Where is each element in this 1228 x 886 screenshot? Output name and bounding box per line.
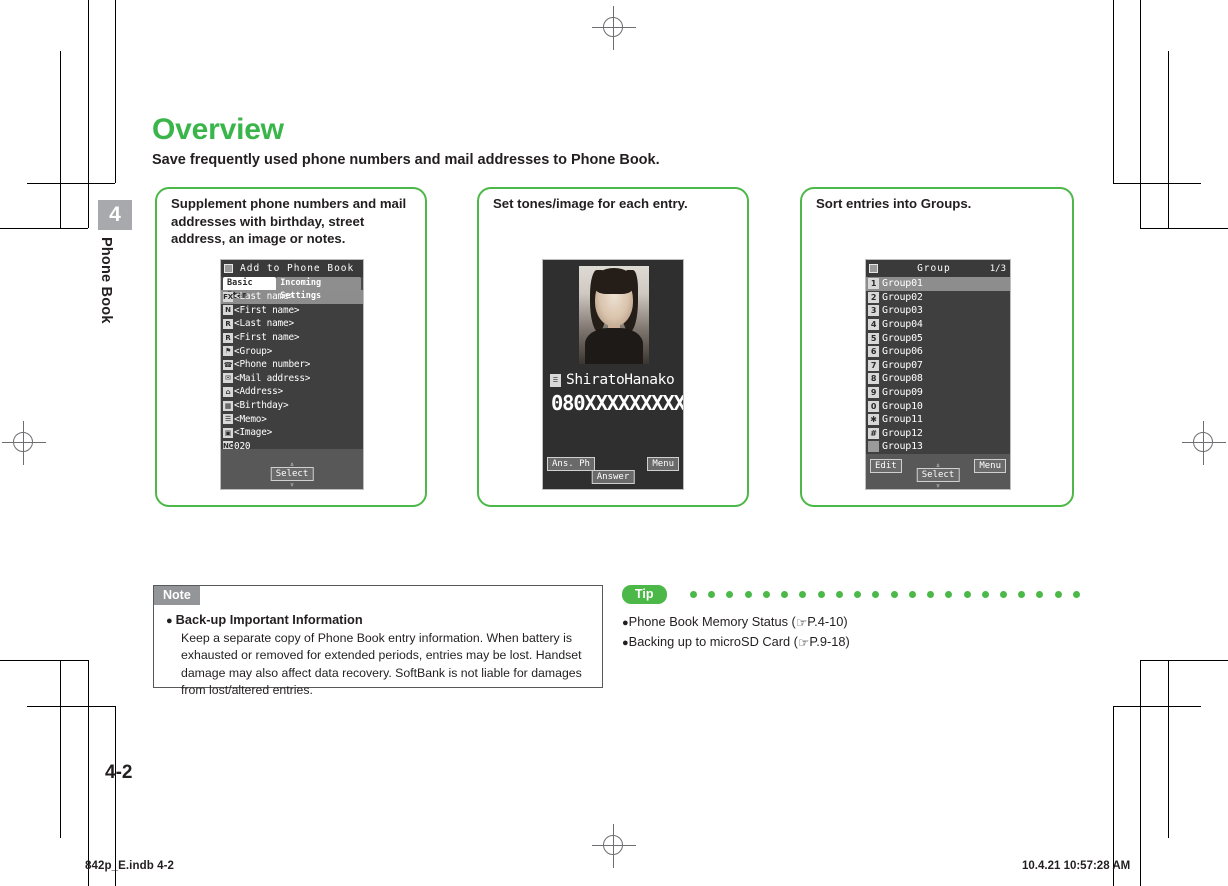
phonebook-field-row[interactable]: FX<Last name>: [221, 290, 363, 304]
group-label: Group09: [882, 387, 923, 398]
group-row[interactable]: 7Group07: [866, 359, 1010, 373]
tip-dot: [781, 591, 788, 598]
phonebook-field-label: <Birthday>: [234, 400, 288, 411]
crop-mark-tr-v3: [1113, 0, 1114, 183]
crop-mark-tr-h2: [1113, 183, 1201, 184]
group-row[interactable]: ✱Group11: [866, 413, 1010, 427]
softkey-edit[interactable]: Edit: [870, 459, 902, 473]
phonebook-entry-icon: ☰: [550, 374, 561, 387]
bullet-icon: ●: [622, 637, 629, 649]
group-label: Group13: [882, 441, 923, 452]
tab-incoming-settings[interactable]: Incoming Settings: [276, 277, 361, 290]
crop-mark-tl-v: [88, 0, 89, 228]
tip-item-ref[interactable]: P.4-10: [807, 614, 843, 629]
group-titlebar: Group 1/3: [866, 260, 1010, 277]
group-row[interactable]: 3Group03: [866, 304, 1010, 318]
tip-dot: [945, 591, 952, 598]
card-caption: Supplement phone numbers and mail addres…: [171, 195, 415, 248]
handset-screen-add-phonebook: Add to Phone Book Basic Item Incoming Se…: [220, 259, 364, 490]
group-label: Group05: [882, 333, 923, 344]
group-label: Group06: [882, 346, 923, 357]
group-page-indicator: 1/3: [990, 264, 1006, 274]
group-shortcut-key: 1: [868, 278, 879, 289]
phonebook-field-label: <Memo>: [234, 414, 267, 425]
crop-mark-tr-v: [1140, 0, 1141, 228]
phonebook-field-row[interactable]: ▣<Image>: [221, 426, 363, 440]
tip-dot: [708, 591, 715, 598]
field-type-icon: FX: [223, 292, 233, 302]
tip-dot: [836, 591, 843, 598]
field-type-icon: N: [223, 305, 233, 315]
phonebook-field-label: <Image>: [234, 427, 272, 438]
note-box: Note ●Back-up Important Information Keep…: [153, 585, 603, 688]
softkey-menu[interactable]: Menu: [974, 459, 1006, 473]
tip-dot: [927, 591, 934, 598]
footer-right: 10.4.21 10:57:28 AM: [1022, 860, 1130, 872]
tip-item-ref[interactable]: P.9-18: [809, 634, 845, 649]
phonebook-field-label: <First name>: [234, 332, 299, 343]
phonebook-field-label: <Last name>: [234, 318, 294, 329]
softkey-menu[interactable]: Menu: [647, 457, 679, 471]
phonebook-field-row[interactable]: ▦<Birthday>: [221, 399, 363, 413]
group-shortcut-key: 8: [868, 373, 879, 384]
chapter-number: 4: [98, 200, 132, 230]
phonebook-field-list: FX<Last name>N<First name>R<Last name>R<…: [221, 290, 363, 453]
crop-mark-tr-v2: [1168, 51, 1169, 229]
group-shortcut-key: 5: [868, 333, 879, 344]
signal-icon: [224, 264, 233, 273]
group-row[interactable]: 1Group01: [866, 277, 1010, 291]
card-caption: Sort entries into Groups.: [816, 195, 1062, 213]
group-row[interactable]: 6Group06: [866, 345, 1010, 359]
chapter-tab: 4 Phone Book: [98, 200, 132, 347]
group-shortcut-key: 3: [868, 305, 879, 316]
page-title: Overview: [152, 113, 284, 147]
softkey-select[interactable]: Select: [271, 467, 314, 481]
note-label: Note: [154, 586, 200, 605]
signal-icon: [869, 264, 878, 273]
softkey-answer[interactable]: Answer: [592, 470, 635, 484]
caller-name: ShiratoHanako: [566, 372, 674, 388]
tip-dot: [799, 591, 806, 598]
group-shortcut-key: 6: [868, 346, 879, 357]
group-label: Group04: [882, 319, 923, 330]
tip-dot: [763, 591, 770, 598]
group-shortcut-key: ✱: [868, 414, 879, 425]
group-label: Group11: [882, 414, 923, 425]
crop-mark-tl-h: [0, 228, 88, 229]
crop-mark-tl-v2: [60, 51, 61, 229]
field-type-icon: R: [223, 333, 233, 343]
footer-left: 842p_E.indb 4-2: [85, 860, 174, 872]
handset-screen-group-list: Group 1/3 1Group012Group023Group034Group…: [865, 259, 1011, 490]
tip-item-close: ): [843, 614, 847, 629]
tip-dot: [726, 591, 733, 598]
card-caption: Set tones/image for each entry.: [493, 195, 737, 213]
registration-mark-top: [592, 6, 636, 50]
field-type-icon: R: [223, 319, 233, 329]
page-subtitle: Save frequently used phone numbers and m…: [152, 152, 660, 168]
group-row[interactable]: 5Group05: [866, 331, 1010, 345]
note-body: Keep a separate copy of Phone Book entry…: [181, 630, 593, 700]
phonebook-field-row[interactable]: N<First name>: [221, 304, 363, 318]
group-row[interactable]: 0Group10: [866, 399, 1010, 413]
tip-item: ●Backing up to microSD Card (☞P.9-18): [622, 632, 850, 652]
group-row[interactable]: 4Group04: [866, 318, 1010, 332]
phonebook-field-row[interactable]: ⚑<Group>: [221, 344, 363, 358]
group-label: Group08: [882, 373, 923, 384]
registration-mark-bottom: [592, 824, 636, 868]
group-title: Group: [878, 263, 990, 274]
group-label: Group03: [882, 305, 923, 316]
bullet-icon: ●: [622, 617, 629, 629]
crop-mark-tl-v3: [115, 0, 116, 183]
phonebook-field-label: <Last name>: [234, 291, 294, 302]
reference-arrow-icon: ☞: [796, 614, 807, 633]
crop-mark-br-v3: [1113, 706, 1114, 886]
caller-photo: [579, 266, 649, 364]
group-label: Group02: [882, 292, 923, 303]
group-shortcut-key: [868, 441, 879, 452]
tip-dot: [891, 591, 898, 598]
tab-basic-item[interactable]: Basic Item: [223, 277, 276, 290]
tip-item-text: Backing up to microSD Card (: [629, 634, 798, 649]
group-softkeys: Edit ▵ Select ▿ Menu: [866, 455, 1010, 489]
caller-name-row: ☰ ShiratoHanako: [550, 372, 679, 388]
phonebook-titlebar: Add to Phone Book: [221, 260, 363, 277]
phonebook-field-row[interactable]: R<First name>: [221, 331, 363, 345]
tip-dot: [964, 591, 971, 598]
phonebook-field-row[interactable]: ☎<Phone number>: [221, 358, 363, 372]
group-row[interactable]: 2Group02: [866, 291, 1010, 305]
group-row[interactable]: 9Group09: [866, 386, 1010, 400]
field-type-icon: ☎: [223, 360, 233, 370]
tip-dot: [1036, 591, 1043, 598]
tip-label: Tip: [622, 585, 667, 604]
group-list: 1Group012Group023Group034Group045Group05…: [866, 277, 1010, 454]
bullet-icon: ●: [166, 615, 173, 627]
phonebook-field-row[interactable]: ☰<Memo>: [221, 412, 363, 426]
group-row[interactable]: 8Group08: [866, 372, 1010, 386]
crop-mark-bl-h2: [27, 706, 115, 707]
group-label: Group07: [882, 360, 923, 371]
tip-dot: [982, 591, 989, 598]
phonebook-field-row[interactable]: ✉<Mail address>: [221, 372, 363, 386]
tip-dot: [909, 591, 916, 598]
softkey-select[interactable]: Select: [917, 468, 960, 482]
tip-dot: [818, 591, 825, 598]
phonebook-field-label: <Phone number>: [234, 359, 310, 370]
crop-mark-bl-h: [0, 660, 88, 661]
tip-item-close: ): [845, 634, 849, 649]
group-row[interactable]: Group13: [866, 440, 1010, 454]
phonebook-field-row[interactable]: ⌂<Address>: [221, 385, 363, 399]
phonebook-field-row[interactable]: R<Last name>: [221, 317, 363, 331]
phonebook-softkeys: ▵ Select ▿: [221, 449, 363, 489]
tip-dot: [1055, 591, 1062, 598]
crop-mark-bl-v: [88, 660, 89, 886]
phonebook-field-label: <Mail address>: [234, 373, 310, 384]
caller-number: 080XXXXXXXXX: [551, 391, 684, 415]
feature-card-supplement: Supplement phone numbers and mail addres…: [155, 187, 427, 507]
down-arrow-icon: ▿: [936, 481, 941, 490]
group-label: Group01: [882, 278, 923, 289]
field-type-icon: ⚑: [223, 346, 233, 356]
feature-card-groups: Sort entries into Groups. Group 1/3 1Gro…: [800, 187, 1074, 507]
phonebook-field-label: <First name>: [234, 305, 299, 316]
group-shortcut-key: 2: [868, 292, 879, 303]
tip-list: ●Phone Book Memory Status (☞P.4-10) ●Bac…: [622, 612, 850, 652]
incoming-softkeys: Ans. Ph Answer Menu: [543, 453, 683, 489]
note-heading-text: Back-up Important Information: [176, 612, 363, 627]
crop-mark-br-h: [1140, 660, 1228, 661]
crop-mark-tr-h: [1140, 228, 1228, 229]
handset-screen-incoming-call: ☰ ShiratoHanako 080XXXXXXXXX Ans. Ph Ans…: [542, 259, 684, 490]
field-type-icon: ▦: [223, 401, 233, 411]
tip-dotted-rule: [690, 590, 1080, 598]
group-label: Group10: [882, 401, 923, 412]
tip-dot: [1018, 591, 1025, 598]
down-arrow-icon: ▿: [290, 480, 295, 489]
registration-mark-right: [1182, 421, 1226, 465]
field-type-icon: ⌂: [223, 387, 233, 397]
group-label: Group12: [882, 428, 923, 439]
softkey-answer-phone[interactable]: Ans. Ph: [547, 457, 595, 471]
tip-item-text: Phone Book Memory Status (: [629, 614, 796, 629]
field-type-icon: ☰: [223, 414, 233, 424]
tip-dot: [690, 591, 697, 598]
group-shortcut-key: 7: [868, 360, 879, 371]
chapter-name: Phone Book: [98, 237, 114, 347]
crop-mark-br-v: [1140, 660, 1141, 886]
crop-mark-br-v2: [1168, 660, 1169, 838]
tip-dot: [745, 591, 752, 598]
tip-dot: [872, 591, 879, 598]
phonebook-field-label: <Group>: [234, 346, 272, 357]
crop-mark-br-h2: [1113, 706, 1201, 707]
feature-card-tones: Set tones/image for each entry. ☰ Shirat…: [477, 187, 749, 507]
page-number: 4-2: [105, 762, 132, 784]
phonebook-field-label: <Address>: [234, 386, 283, 397]
crop-mark-bl-v3: [115, 706, 116, 886]
group-row[interactable]: #Group12: [866, 427, 1010, 441]
tip-dot: [854, 591, 861, 598]
phonebook-title: Add to Phone Book: [240, 263, 354, 274]
group-shortcut-key: 9: [868, 387, 879, 398]
group-shortcut-key: #: [868, 428, 879, 439]
group-shortcut-key: 4: [868, 319, 879, 330]
field-type-icon: ▣: [223, 428, 233, 438]
note-heading: ●Back-up Important Information: [166, 612, 363, 627]
reference-arrow-icon: ☞: [798, 634, 809, 653]
tip-item: ●Phone Book Memory Status (☞P.4-10): [622, 612, 850, 632]
phonebook-tabs: Basic Item Incoming Settings: [221, 277, 363, 290]
crop-mark-bl-v2: [60, 660, 61, 838]
registration-mark-left: [2, 421, 46, 465]
crop-mark-tl-h2: [27, 183, 115, 184]
tip-dot: [1073, 591, 1080, 598]
field-type-icon: ✉: [223, 373, 233, 383]
tip-dot: [1000, 591, 1007, 598]
group-shortcut-key: 0: [868, 401, 879, 412]
